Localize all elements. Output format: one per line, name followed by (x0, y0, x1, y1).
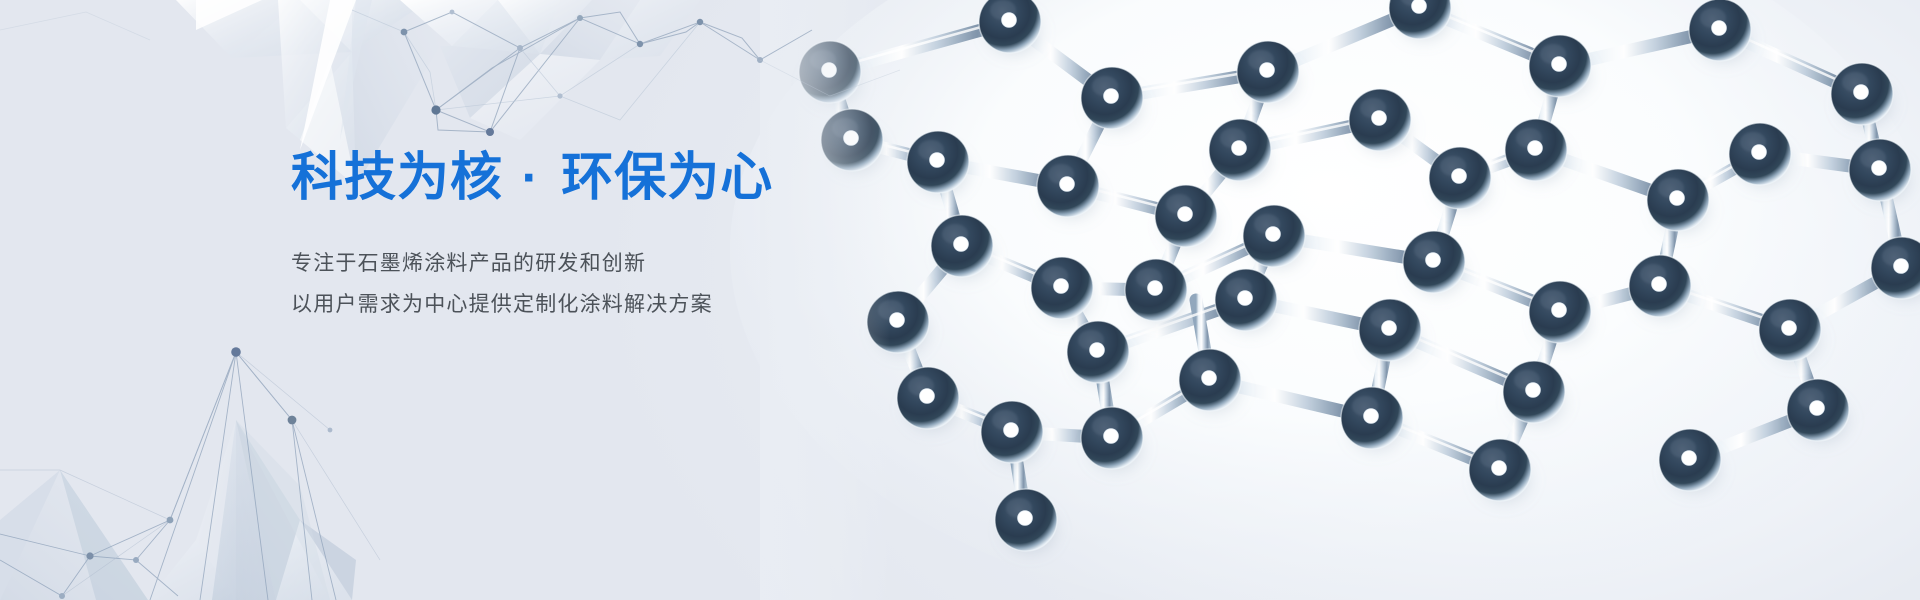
subtitle-line-2: 以用户需求为中心提供定制化涂料解决方案 (291, 285, 911, 326)
low-poly-network-graphic (0, 0, 1920, 600)
subtitle-line-1: 专注于石墨烯涂料产品的研发和创新 (291, 244, 911, 285)
headline-right: 环保为心 (561, 149, 773, 207)
page-title: 科技为核 · 环保为心 (291, 148, 911, 209)
subtitle-list: 专注于石墨烯涂料产品的研发和创新 以用户需求为中心提供定制化涂料解决方案 (291, 244, 911, 326)
headline-separator-dot: · (503, 149, 561, 207)
hero-text-block: 科技为核 · 环保为心 专注于石墨烯涂料产品的研发和创新 以用户需求为中心提供定… (291, 148, 911, 326)
bottom-left-polygons (0, 420, 356, 600)
hero-banner: 科技为核 · 环保为心 专注于石墨烯涂料产品的研发和创新 以用户需求为中心提供定… (0, 0, 1920, 600)
headline-left: 科技为核 (291, 149, 503, 207)
